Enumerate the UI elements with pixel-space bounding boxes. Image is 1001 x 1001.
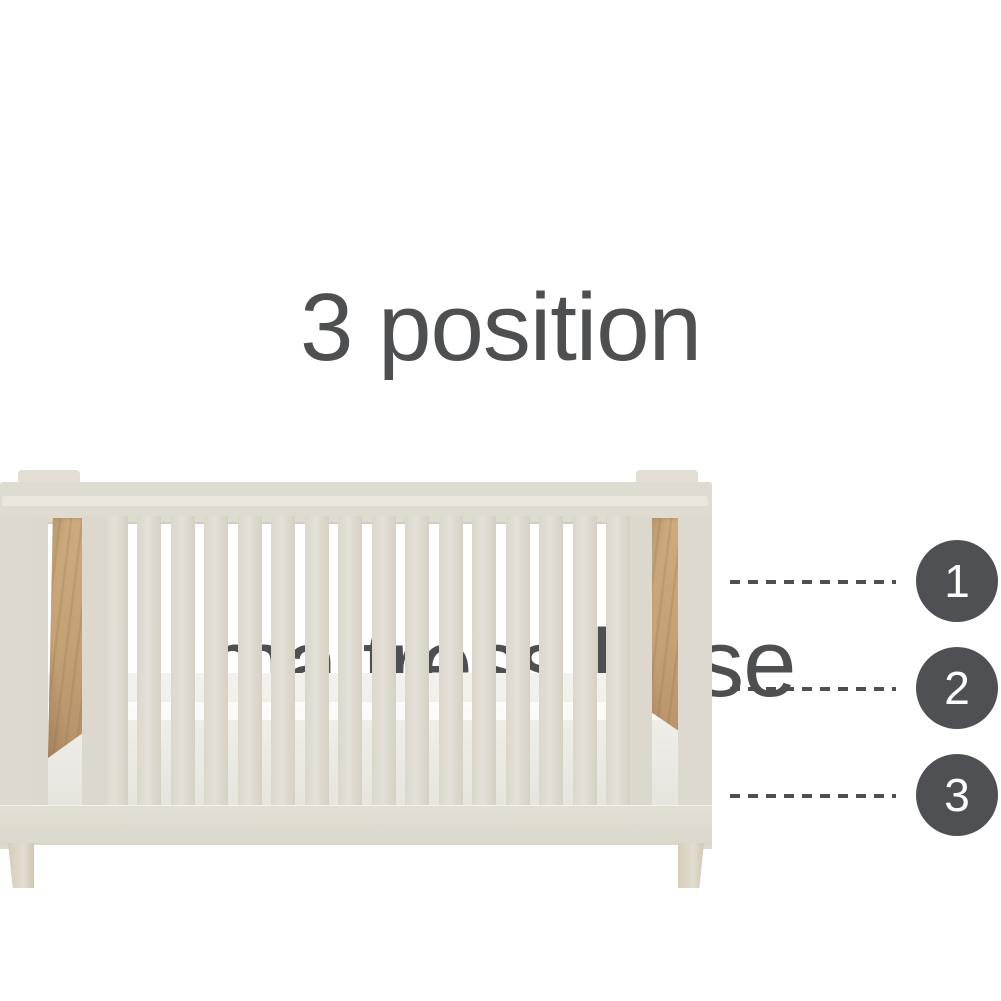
crib-slat — [439, 516, 463, 808]
crib-slat — [305, 516, 329, 808]
crib-slat — [372, 516, 396, 808]
crib-leg-left — [8, 843, 34, 888]
callout-1: 1 — [730, 540, 1001, 624]
crib-slat — [606, 516, 630, 808]
page-title-line-1: 3 position — [0, 272, 1001, 384]
crib-slat-group — [104, 516, 630, 808]
callout-leader-line-1 — [730, 580, 896, 584]
crib-inner-post-right-inner — [630, 516, 652, 806]
crib-slat — [137, 516, 161, 808]
crib-slat — [338, 516, 362, 808]
crib-slat — [405, 516, 429, 808]
crib-slat — [171, 516, 195, 808]
crib-slat — [506, 516, 530, 808]
crib-slat — [539, 516, 563, 808]
callout-2: 2 — [730, 647, 1001, 731]
crib-slat — [204, 516, 228, 808]
callout-badge-1[interactable]: 1 — [916, 540, 998, 622]
crib-slat — [238, 516, 262, 808]
crib-illustration — [0, 470, 715, 890]
callout-badge-2[interactable]: 2 — [916, 647, 998, 729]
crib-slat — [104, 516, 128, 808]
callout-leader-line-3 — [730, 794, 896, 798]
crib-leg-right — [678, 843, 704, 888]
crib-slat — [271, 516, 295, 808]
crib-slat — [472, 516, 496, 808]
crib-top-rail-highlight — [2, 496, 708, 506]
crib-inner-post-left-inner — [82, 516, 104, 806]
product-feature-graphic: 3 position mattress base 1 2 — [0, 0, 1001, 1001]
crib-bottom-rail — [0, 805, 712, 845]
callout-leader-line-2 — [730, 687, 896, 691]
crib-side-stile-right — [678, 514, 712, 849]
crib-slat — [573, 516, 597, 808]
crib-side-stile-left — [0, 514, 34, 849]
callout-3: 3 — [730, 754, 1001, 838]
callout-badge-3[interactable]: 3 — [916, 754, 998, 836]
